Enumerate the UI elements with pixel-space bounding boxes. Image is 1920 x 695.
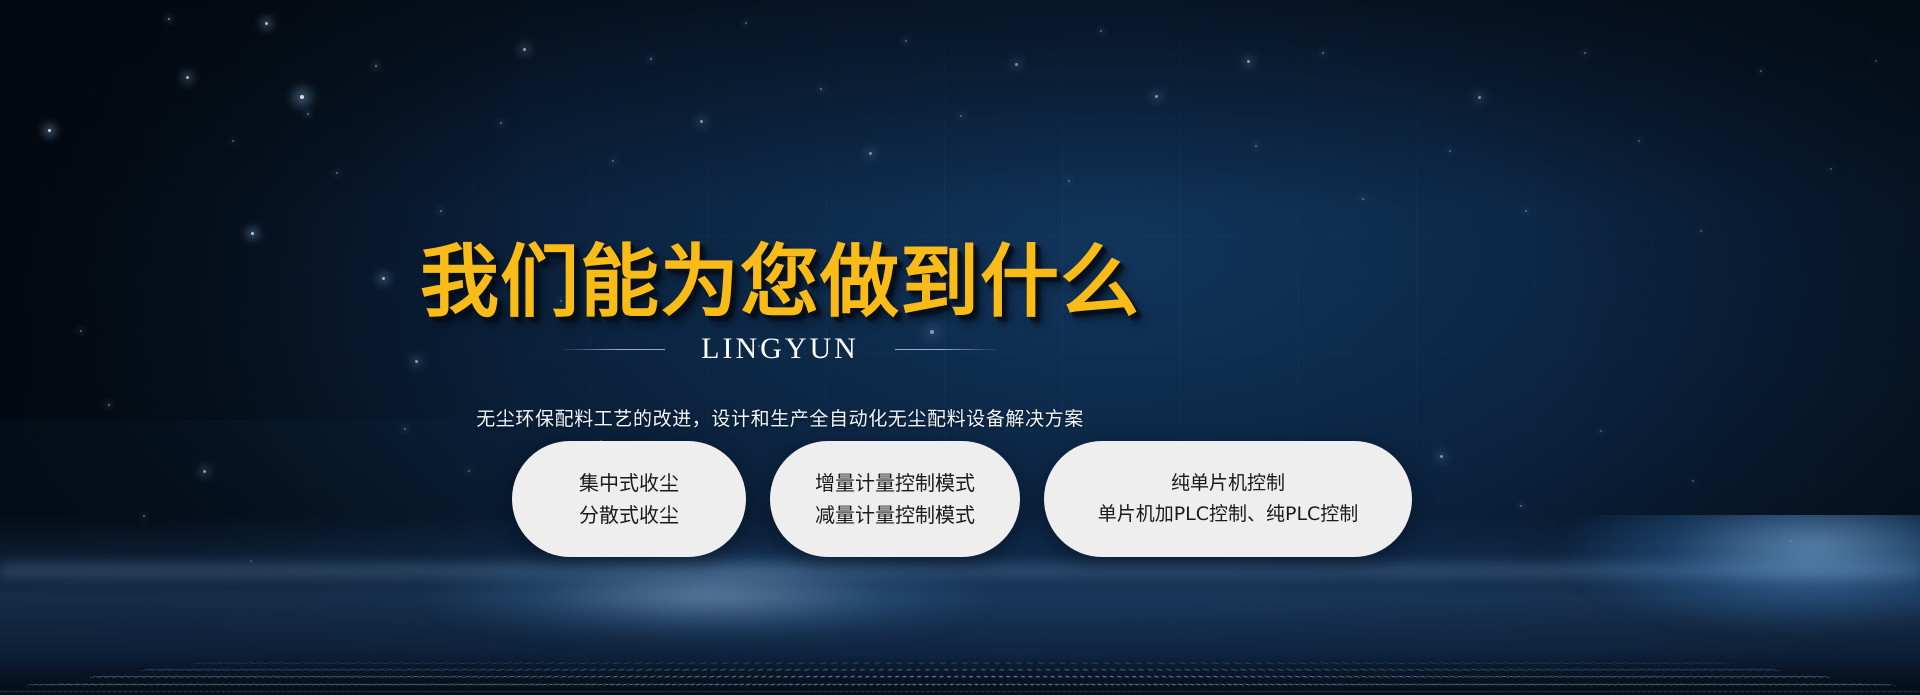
banner-headline: 我们能为您做到什么: [0, 243, 1920, 322]
hero-banner: 我们能为您做到什么 LINGYUN 无尘环保配料工艺的改进，设计和生产全自动化无…: [0, 0, 1920, 695]
feature-card-dust-collection[interactable]: 集中式收尘 分散式收尘: [512, 441, 746, 557]
feature-card-metering-mode[interactable]: 增量计量控制模式 减量计量控制模式: [770, 441, 1020, 557]
banner-content: 我们能为您做到什么 LINGYUN 无尘环保配料工艺的改进，设计和生产全自动化无…: [0, 0, 1920, 695]
feature-card-line-1: 增量计量控制模式: [815, 473, 975, 493]
brand-row: LINGYUN: [0, 332, 1920, 366]
feature-card-line-1: 集中式收尘: [579, 473, 679, 493]
brand-divider-right-line: [895, 349, 997, 350]
banner-description: 无尘环保配料工艺的改进，设计和生产全自动化无尘配料设备解决方案: [0, 404, 1920, 431]
feature-card-list: 集中式收尘 分散式收尘 增量计量控制模式 减量计量控制模式 纯单片机控制 单片机…: [512, 441, 1412, 557]
feature-card-line-2: 减量计量控制模式: [815, 505, 975, 525]
brand-name: LINGYUN: [701, 332, 859, 366]
feature-card-line-1: 纯单片机控制: [1171, 474, 1285, 493]
feature-card-control-system[interactable]: 纯单片机控制 单片机加PLC控制、纯PLC控制: [1044, 441, 1412, 557]
feature-card-line-2: 分散式收尘: [579, 505, 679, 525]
feature-card-line-2: 单片机加PLC控制、纯PLC控制: [1098, 505, 1359, 524]
brand-divider-left-line: [563, 349, 665, 350]
